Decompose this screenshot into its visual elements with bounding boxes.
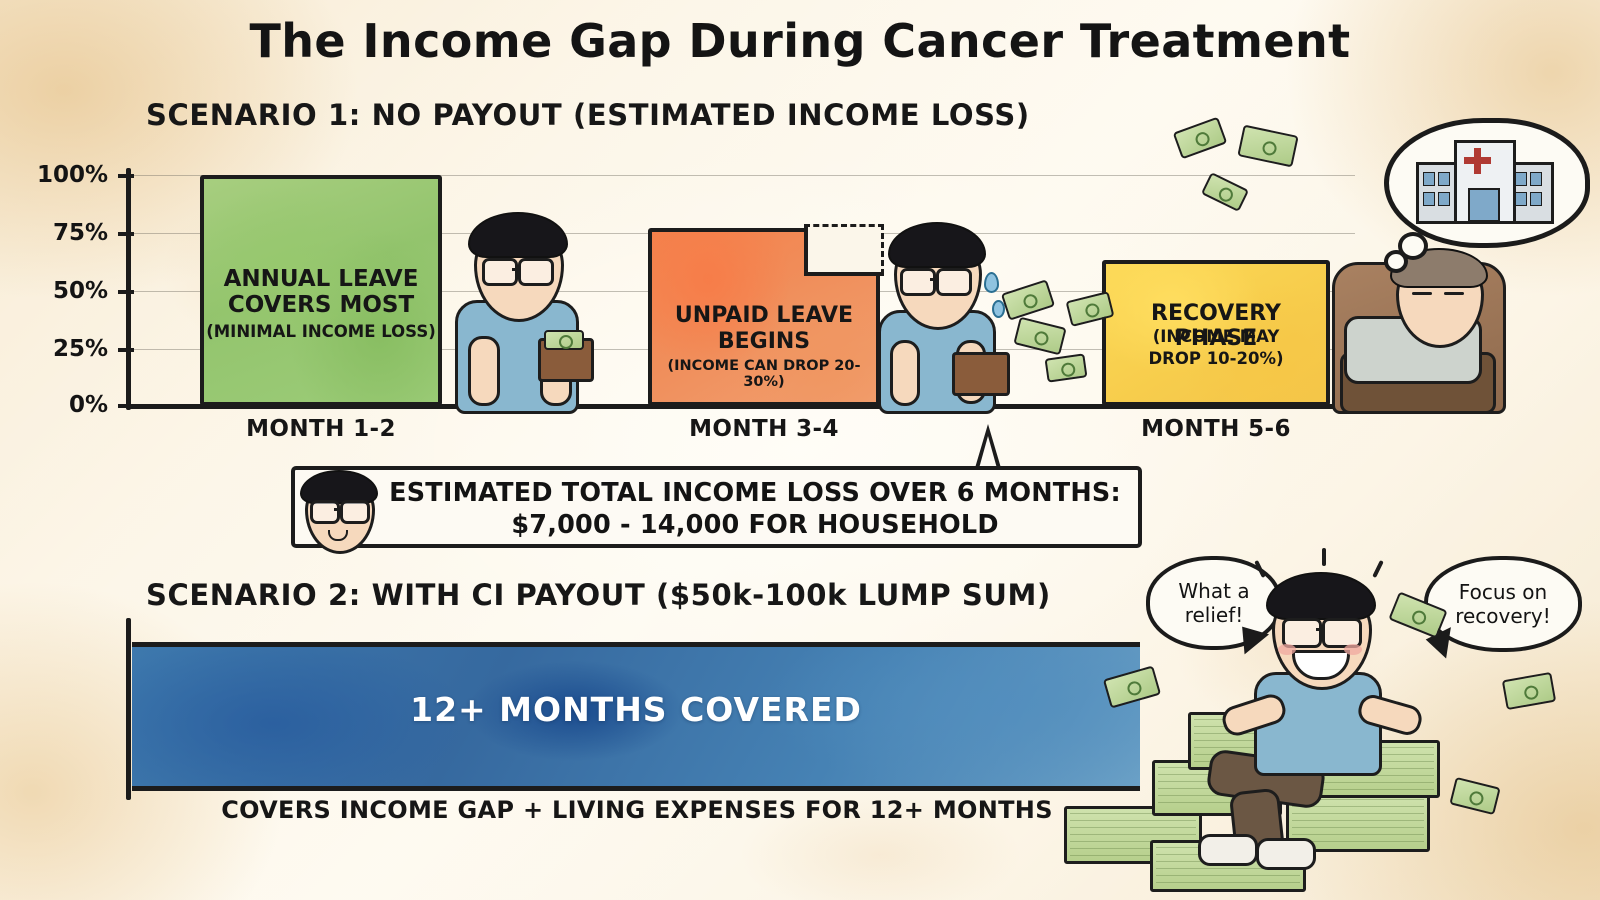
y-tick-mark-100 (118, 174, 134, 178)
bar-label-line1: UNPAID LEAVE (652, 304, 876, 329)
speech-bubble-recovery-text: Focus on recovery! (1428, 580, 1578, 628)
scenario-2-axis (126, 618, 131, 800)
scenario-2-caption: COVERS INCOME GAP + LIVING EXPENSES FOR … (132, 796, 1142, 824)
bar-month-5-6[interactable]: RECOVERY PHASE (INCOME MAY DROP 10-20%) (1102, 260, 1330, 406)
y-tick-label-75: 75% (18, 220, 108, 246)
callout-text-line2: $7,000 - 14,000 FOR HOUSEHOLD (360, 510, 1150, 540)
y-tick-mark-50 (118, 290, 134, 294)
y-tick-mark-25 (118, 348, 134, 352)
bar-label-line3: (INCOME CAN DROP 20-30%) (652, 358, 876, 390)
bar-label-line1: ANNUAL LEAVE (204, 267, 438, 293)
hospital-icon (1416, 140, 1548, 218)
y-tick-mark-0 (118, 404, 134, 408)
bar-notch-dashed-month-3-4 (804, 224, 884, 275)
bar-label-line2: COVERS MOST (204, 293, 438, 319)
y-tick-label-25: 25% (18, 336, 108, 362)
y-tick-mark-75 (118, 232, 134, 236)
scenario-2-heading: SCENARIO 2: WITH CI PAYOUT ($50k-100k LU… (146, 578, 1051, 612)
y-tick-label-0: 0% (18, 392, 108, 418)
bar-label-line3: DROP 10-20%) (1106, 350, 1326, 368)
callout-text-line1: ESTIMATED TOTAL INCOME LOSS OVER 6 MONTH… (360, 478, 1150, 508)
y-axis (126, 168, 131, 410)
bar-label-line2: (INCOME MAY (1106, 328, 1326, 346)
bar-notch-edge (804, 224, 808, 276)
bar-notch-base (804, 272, 884, 276)
y-tick-label-100: 100% (18, 162, 108, 188)
x-tick-label-month-3-4: MONTH 3-4 (648, 416, 880, 442)
bar-label-line3: (MINIMAL INCOME LOSS) (204, 323, 438, 341)
speech-bubble-relief-text: What a relief! (1150, 579, 1278, 627)
y-tick-label-50: 50% (18, 278, 108, 304)
bar-month-1-2[interactable]: ANNUAL LEAVE COVERS MOST (MINIMAL INCOME… (200, 175, 442, 406)
x-tick-label-month-5-6: MONTH 5-6 (1102, 416, 1330, 442)
x-tick-label-month-1-2: MONTH 1-2 (200, 416, 442, 442)
bar-blue-label: 12+ MONTHS COVERED (132, 690, 1140, 729)
bar-label-line2: BEGINS (652, 330, 876, 355)
